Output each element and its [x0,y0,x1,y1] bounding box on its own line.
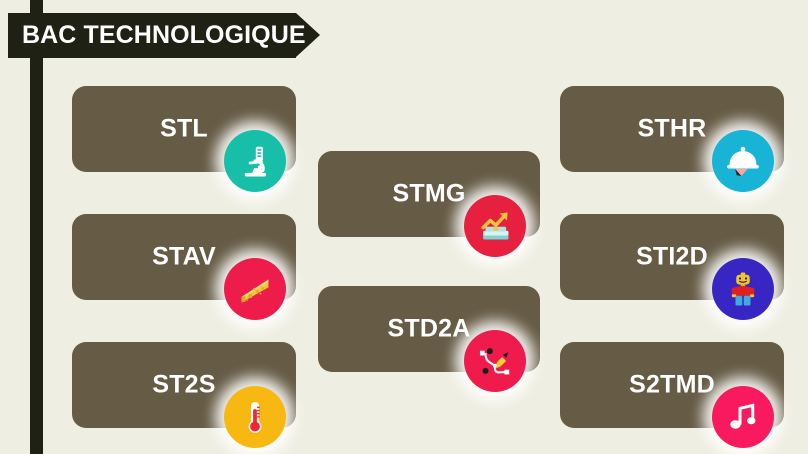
card-st2s[interactable]: ST2S [72,342,296,428]
card-stav[interactable]: STAV [72,214,296,300]
card-stmg[interactable]: STMG [318,151,540,237]
signpost-pole [30,0,43,454]
money-growth-icon [476,207,514,245]
slide-canvas: BAC TECHNOLOGIQUE STL STAV [0,0,808,454]
badge-st2s[interactable] [224,386,286,448]
signpost-banner: BAC TECHNOLOGIQUE [8,13,318,58]
microscope-icon [236,142,274,180]
lego-minifigure-icon [725,271,761,307]
cheese-wedge-icon [236,270,274,308]
serving-dome-icon [724,142,762,180]
card-stl[interactable]: STL [72,86,296,172]
badge-std2a[interactable] [464,330,526,392]
badge-stl[interactable] [224,130,286,192]
music-note-icon [725,399,761,435]
badge-stav[interactable] [224,258,286,320]
card-std2a[interactable]: STD2A [318,286,540,372]
badge-sthr[interactable] [712,130,774,192]
badge-s2tmd[interactable] [712,386,774,448]
card-s2tmd[interactable]: S2TMD [560,342,784,428]
card-sti2d[interactable]: STI2D [560,214,784,300]
badge-sti2d[interactable] [712,258,774,320]
pen-tool-icon [476,342,514,380]
badge-stmg[interactable] [464,195,526,257]
page-title: BAC TECHNOLOGIQUE [22,13,306,58]
thermometer-icon [236,398,274,436]
card-sthr[interactable]: STHR [560,86,784,172]
